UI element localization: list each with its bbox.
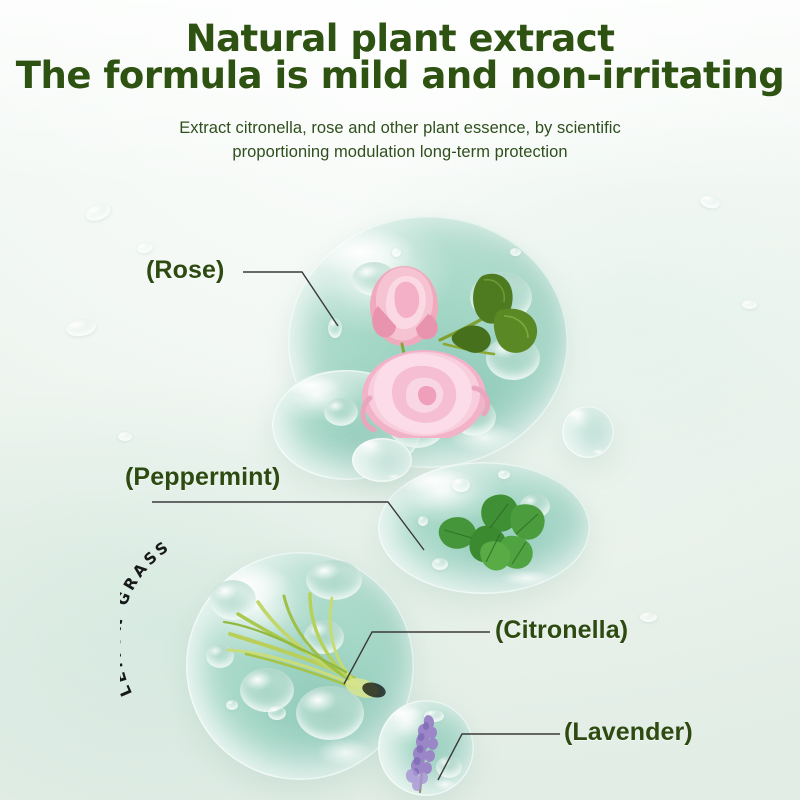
lavender-leader-path [438,734,560,780]
callout-label-peppermint[interactable]: (Peppermint) [125,463,280,492]
callout-label-rose[interactable]: (Rose) [146,256,224,285]
product-infographic-poster: LEMON GRASS [0,0,800,800]
callout-label-lavender[interactable]: (Lavender) [564,718,693,747]
lavender-leader-line [0,0,800,800]
callout-label-citronella[interactable]: (Citronella) [495,616,628,645]
